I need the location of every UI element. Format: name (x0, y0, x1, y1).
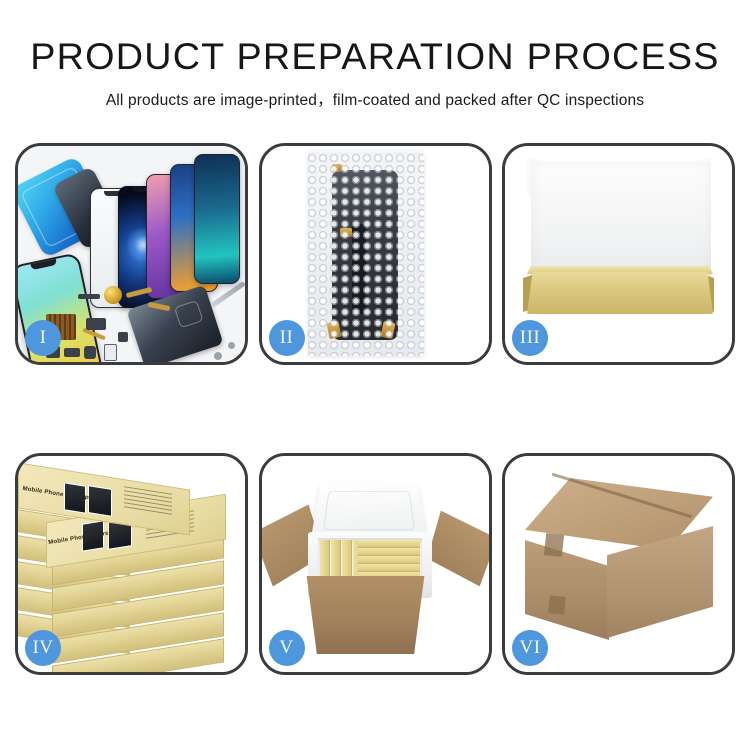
foam-backing-sheet (531, 162, 711, 284)
inner-box-body (527, 272, 713, 314)
page-subtitle: All products are image-printed，film-coat… (0, 88, 750, 110)
panel-phone-parts[interactable]: I (15, 143, 248, 365)
carton-tape-upper (544, 533, 564, 557)
carton-front-wall (302, 576, 430, 654)
inner-box-h2 (358, 548, 420, 556)
vibration-motor-part (104, 286, 122, 304)
inner-box-h1 (358, 540, 420, 548)
inner-box-h4 (358, 564, 420, 572)
page-header: PRODUCT PREPARATION PROCESS All products… (0, 0, 750, 110)
phone-display-teal (194, 154, 240, 284)
inner-box-v1 (320, 540, 330, 582)
small-part-d (84, 346, 96, 359)
step-badge-6: VI (512, 630, 548, 666)
inner-box-h3 (358, 556, 420, 564)
step-badge-1: I (25, 320, 61, 356)
small-part-g (86, 318, 106, 330)
small-part-h (118, 332, 128, 342)
small-part-c (64, 348, 80, 357)
inner-box-v2 (331, 540, 341, 582)
step-badge-5: V (269, 630, 305, 666)
panel-bubble-wrapped-part[interactable]: II (259, 143, 492, 365)
step-badge-4: IV (25, 630, 61, 666)
panel-open-inner-box[interactable]: III (502, 143, 735, 365)
step-badge-2: II (269, 320, 305, 356)
panel-sealed-carton[interactable]: VI (502, 453, 735, 675)
small-screw-a (214, 352, 222, 360)
inner-box-v3 (342, 540, 352, 582)
step-badge-3: III (512, 320, 548, 356)
carton-tape-lower (548, 595, 566, 615)
panel-carton-with-foam-box[interactable]: V (259, 453, 492, 675)
process-step-grid: I II III (15, 143, 735, 675)
bubble-wrap-texture (308, 154, 424, 356)
small-part-a (78, 294, 100, 299)
small-part-e (104, 344, 117, 361)
small-screw-b (228, 342, 235, 349)
panel-stacked-retail-boxes[interactable]: Mobile Phone Spare Parts Mobile Phone Sp… (15, 453, 248, 675)
page-title: PRODUCT PREPARATION PROCESS (0, 38, 750, 77)
